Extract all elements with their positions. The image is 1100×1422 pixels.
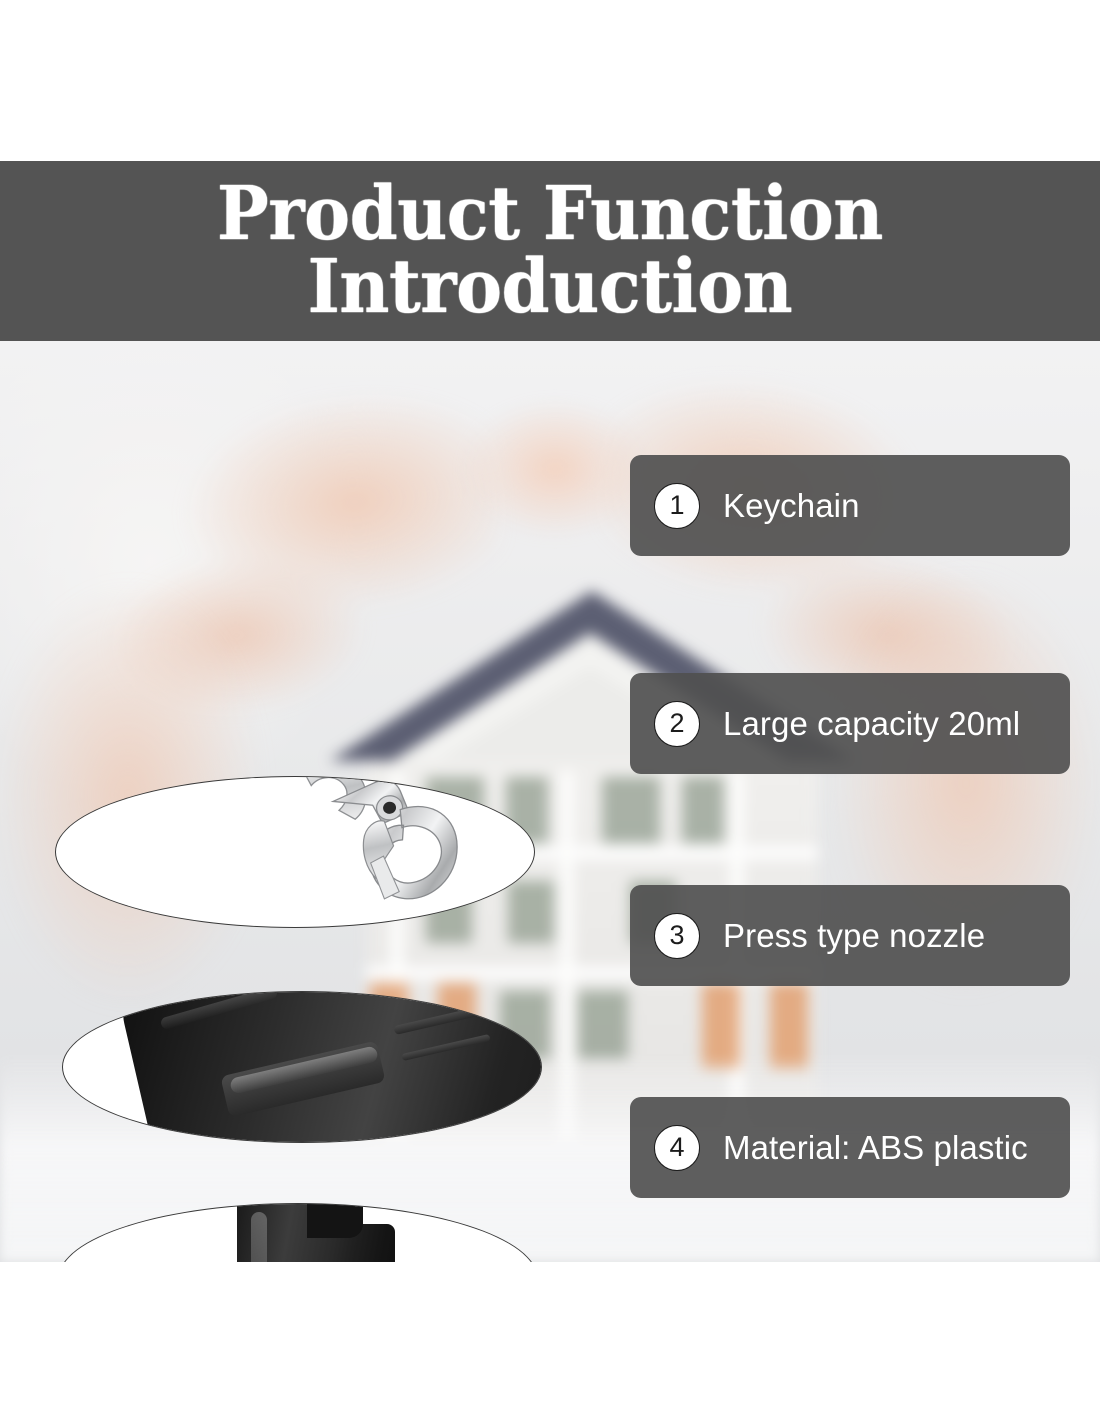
keychain-image bbox=[56, 777, 534, 927]
nozzle-notch bbox=[307, 1203, 363, 1238]
house-window bbox=[602, 777, 660, 843]
feature-number-badge: 4 bbox=[654, 1125, 700, 1171]
feature-number-badge: 3 bbox=[654, 913, 700, 959]
detail-oval-bottle-body bbox=[62, 991, 542, 1143]
feature-label-1[interactable]: 1 Keychain bbox=[630, 455, 1070, 556]
feature-label-3[interactable]: 3 Press type nozzle bbox=[630, 885, 1070, 986]
feature-label-text: Keychain bbox=[723, 487, 860, 525]
feature-label-2[interactable]: 2 Large capacity 20ml bbox=[630, 673, 1070, 774]
detail-oval-nozzle bbox=[58, 1203, 538, 1262]
house-window bbox=[578, 991, 628, 1059]
title-banner: Product Function Introduction bbox=[0, 161, 1100, 341]
feature-label-text: Material: ABS plastic bbox=[723, 1129, 1028, 1167]
feature-label-4[interactable]: 4 Material: ABS plastic bbox=[630, 1097, 1070, 1198]
feature-number-badge: 1 bbox=[654, 483, 700, 529]
feature-label-text: Large capacity 20ml bbox=[723, 705, 1020, 743]
detail-oval-keychain bbox=[55, 776, 535, 928]
infographic-page: Product Function Introduction bbox=[0, 0, 1100, 1422]
feature-label-text: Press type nozzle bbox=[723, 917, 985, 955]
press-nozzle-image bbox=[59, 1204, 537, 1262]
feature-number-badge: 2 bbox=[654, 701, 700, 747]
bottle-body-image bbox=[63, 992, 541, 1142]
arm-right bbox=[830, 551, 1100, 1131]
page-title: Product Function Introduction bbox=[180, 178, 920, 323]
nozzle-highlight bbox=[251, 1212, 267, 1262]
house-window bbox=[682, 777, 724, 843]
keychain-clasp-icon bbox=[252, 776, 483, 928]
